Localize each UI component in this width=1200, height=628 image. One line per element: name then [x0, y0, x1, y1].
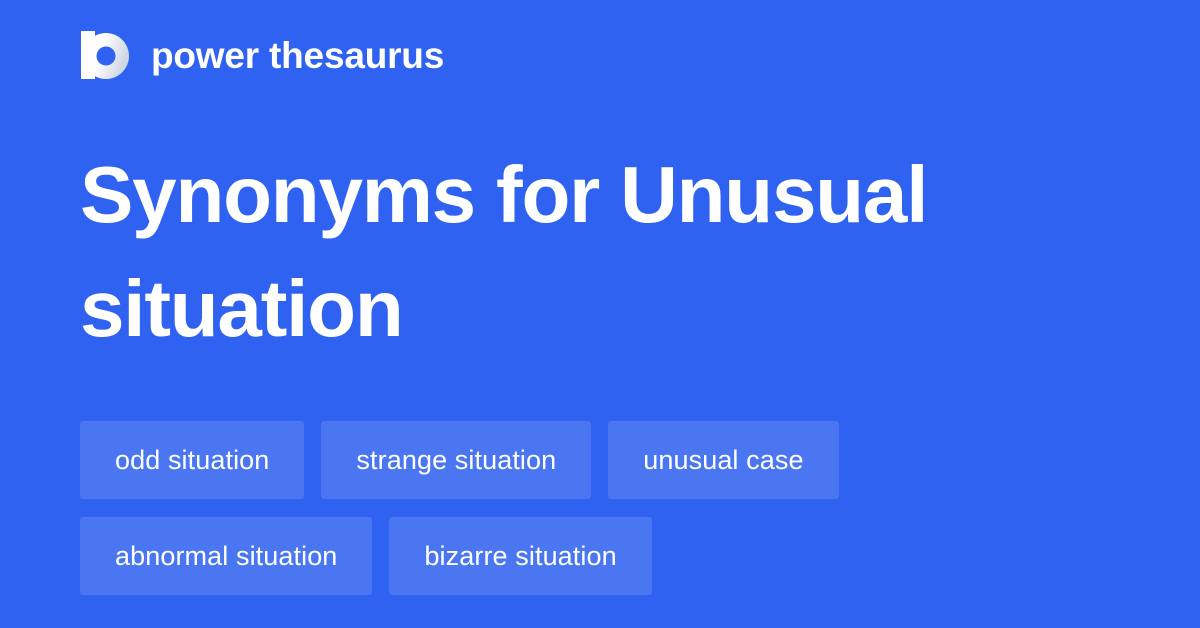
share-card: power thesaurus Synonyms for Unusual sit… — [0, 0, 1200, 628]
synonym-chip[interactable]: bizarre situation — [389, 517, 651, 595]
synonym-chip[interactable]: strange situation — [321, 421, 591, 499]
synonym-chip[interactable]: abnormal situation — [80, 517, 372, 595]
brand-name: power thesaurus — [151, 37, 444, 74]
synonym-chip[interactable]: odd situation — [80, 421, 304, 499]
synonym-chip[interactable]: unusual case — [608, 421, 838, 499]
page-title: Synonyms for Unusual situation — [80, 138, 1040, 365]
power-thesaurus-b-logo-icon — [80, 29, 130, 81]
brand-header[interactable]: power thesaurus — [80, 28, 444, 82]
synonym-chip-list: odd situation strange situation unusual … — [80, 421, 1120, 595]
